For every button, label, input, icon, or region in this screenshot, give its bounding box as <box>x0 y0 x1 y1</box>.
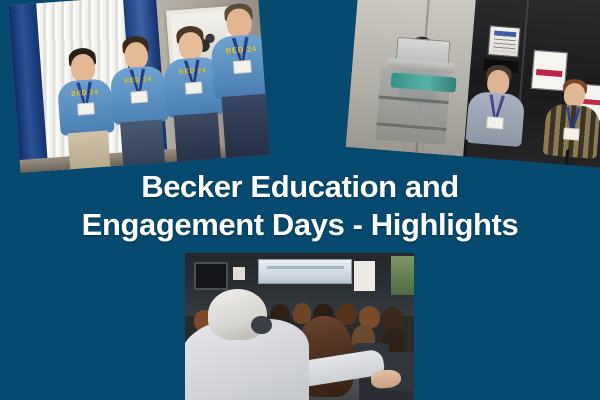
legs <box>221 94 269 159</box>
legs <box>68 130 111 171</box>
title-line-2: Engagement Days - Highlights <box>0 206 600 244</box>
name-badge <box>563 127 580 140</box>
name-badge <box>486 116 504 129</box>
panel-photo-scene <box>346 0 600 168</box>
projection-screen <box>258 259 352 284</box>
audience-head <box>382 307 403 330</box>
poster-canvas: BED 24 BED 24 BED 24 <box>0 0 600 400</box>
wall-poster-top <box>487 26 521 58</box>
name-badge <box>77 102 95 115</box>
seated-panelist-right <box>541 77 600 163</box>
name-badge <box>233 60 252 74</box>
name-badge <box>185 81 203 94</box>
doorway <box>194 262 228 290</box>
legs <box>120 119 165 166</box>
photo-audience <box>185 253 414 400</box>
wall-sign <box>233 267 244 281</box>
flipchart <box>354 261 375 291</box>
audience-photo-scene <box>185 253 414 400</box>
poster-title: Becker Education and Engagement Days - H… <box>0 168 600 244</box>
person-four: BED 24 <box>207 9 269 158</box>
photo-panel-session <box>346 0 600 168</box>
title-line-1: Becker Education and <box>0 168 600 206</box>
legs <box>174 112 221 162</box>
name-badge <box>130 90 148 103</box>
seated-panelist-left <box>464 63 529 153</box>
group-photo-scene: BED 24 BED 24 BED 24 <box>8 0 270 173</box>
foreground-man-ear <box>251 316 272 334</box>
window-greenery <box>391 256 414 295</box>
photo-group-of-four: BED 24 BED 24 BED 24 <box>8 0 270 173</box>
